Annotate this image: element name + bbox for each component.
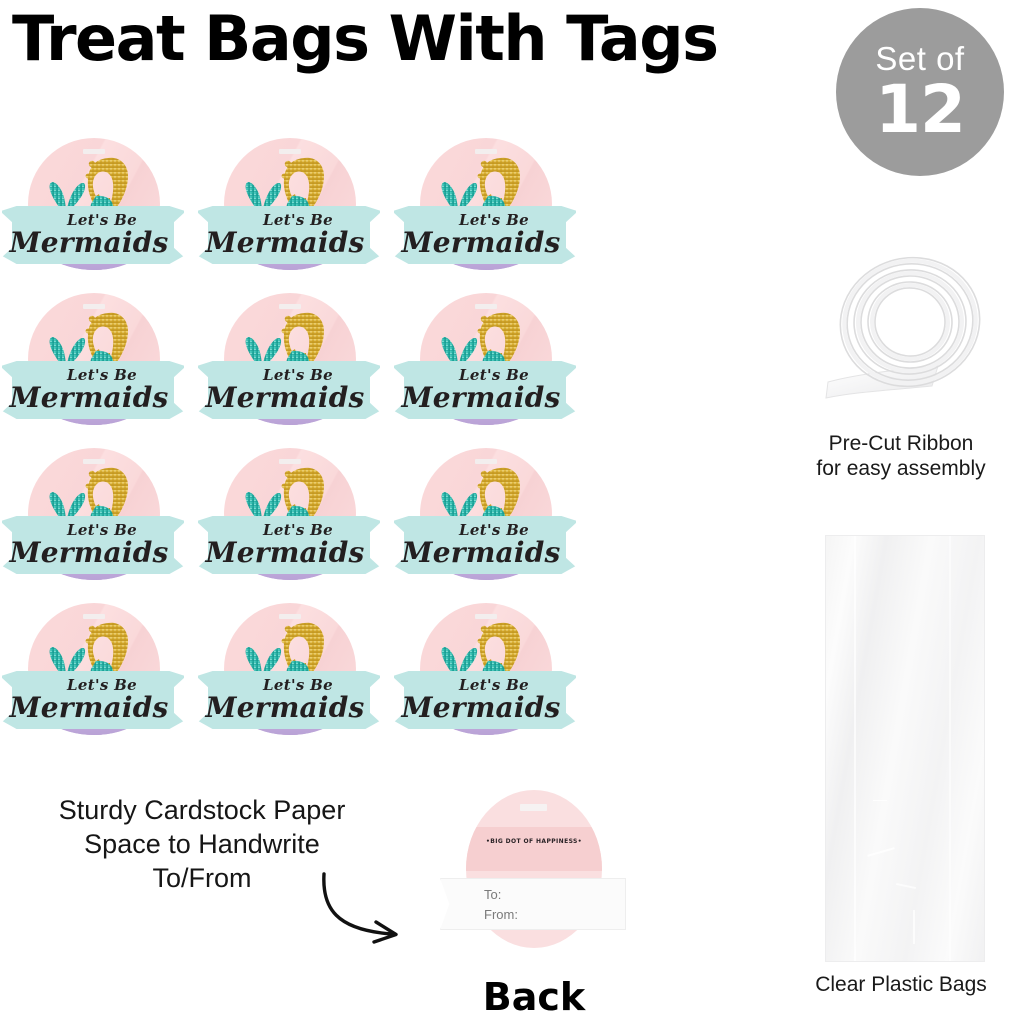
ribbon-caption: Pre-Cut Ribbon for easy assembly — [790, 432, 1012, 482]
tag-text-line2: Mermaids — [10, 694, 169, 722]
tag-banner-text: Let's BeMermaids — [2, 516, 184, 574]
cardstock-note-line2: Space to Handwrite — [8, 827, 396, 861]
tag-banner: Let's BeMermaids — [394, 671, 576, 729]
mermaid-tag: Let's BeMermaids — [196, 603, 382, 755]
tag-text-line2: Mermaids — [402, 694, 561, 722]
tag-banner-text: Let's BeMermaids — [394, 361, 576, 419]
tag-banner: Let's BeMermaids — [394, 361, 576, 419]
clear-plastic-bag-image — [825, 535, 985, 962]
back-tag-write-banner: To: From: — [440, 878, 626, 930]
set-badge-count: 12 — [875, 77, 965, 143]
mermaid-tag-grid: Let's BeMermaids — [0, 138, 600, 758]
tag-banner-text: Let's BeMermaids — [198, 516, 380, 574]
tag-banner-text: Let's BeMermaids — [2, 361, 184, 419]
tag-text-line2: Mermaids — [206, 539, 365, 567]
tag-text-line2: Mermaids — [10, 384, 169, 412]
mermaid-tag: Let's BeMermaids — [392, 138, 578, 290]
mermaid-tag: Let's BeMermaids — [0, 293, 186, 445]
mermaid-tag: Let's BeMermaids — [392, 603, 578, 755]
tag-text-line2: Mermaids — [402, 384, 561, 412]
tag-banner-text: Let's BeMermaids — [2, 206, 184, 264]
back-caption: Back — [440, 975, 628, 1019]
mermaid-tag: Let's BeMermaids — [0, 603, 186, 755]
back-tag-to-label: To: — [484, 887, 501, 902]
tag-banner-text: Let's BeMermaids — [198, 206, 380, 264]
tag-banner-text: Let's BeMermaids — [394, 206, 576, 264]
ribbon-caption-line2: for easy assembly — [790, 457, 1012, 482]
tag-text-line2: Mermaids — [206, 694, 365, 722]
set-count-badge: Set of 12 — [836, 8, 1004, 176]
mermaid-tag: Let's BeMermaids — [392, 448, 578, 600]
tag-text-line2: Mermaids — [402, 229, 561, 257]
tag-banner: Let's BeMermaids — [2, 361, 184, 419]
tag-banner: Let's BeMermaids — [198, 206, 380, 264]
tag-banner: Let's BeMermaids — [198, 516, 380, 574]
tag-banner-text: Let's BeMermaids — [198, 671, 380, 729]
curved-arrow-icon — [310, 868, 422, 950]
tag-text-line2: Mermaids — [206, 229, 365, 257]
back-tag-hang-slot — [520, 804, 547, 811]
back-tag-from-label: From: — [484, 907, 518, 922]
back-tag-preview: •BIG DOT OF HAPPINESS• To: From: — [440, 790, 628, 965]
cardstock-note-line1: Sturdy Cardstock Paper — [8, 793, 396, 827]
tag-banner-text: Let's BeMermaids — [198, 361, 380, 419]
bag-caption: Clear Plastic Bags — [790, 973, 1012, 997]
tag-banner: Let's BeMermaids — [2, 671, 184, 729]
set-badge-label: Set of — [875, 42, 964, 75]
tag-banner-text: Let's BeMermaids — [394, 671, 576, 729]
back-tag-brand-text: •BIG DOT OF HAPPINESS• — [466, 838, 602, 845]
tag-text-line2: Mermaids — [402, 539, 561, 567]
tag-banner: Let's BeMermaids — [2, 206, 184, 264]
tag-banner: Let's BeMermaids — [198, 671, 380, 729]
back-tag-color-band — [466, 827, 602, 871]
back-tag-banner-shape — [440, 878, 626, 930]
tag-banner: Let's BeMermaids — [2, 516, 184, 574]
clear-plastic-bag-section: Clear Plastic Bags — [790, 535, 1012, 1015]
mermaid-tag: Let's BeMermaids — [196, 448, 382, 600]
mermaid-tag: Let's BeMermaids — [196, 293, 382, 445]
mermaid-tag: Let's BeMermaids — [196, 138, 382, 290]
mermaid-tag: Let's BeMermaids — [0, 448, 186, 600]
page-title: Treat Bags With Tags — [12, 8, 718, 70]
tag-banner: Let's BeMermaids — [198, 361, 380, 419]
tag-text-line2: Mermaids — [10, 539, 169, 567]
tag-banner-text: Let's BeMermaids — [394, 516, 576, 574]
tag-banner: Let's BeMermaids — [394, 516, 576, 574]
tag-banner-text: Let's BeMermaids — [2, 671, 184, 729]
ribbon-caption-line1: Pre-Cut Ribbon — [790, 432, 1012, 457]
mermaid-tag: Let's BeMermaids — [0, 138, 186, 290]
mermaid-tag: Let's BeMermaids — [392, 293, 578, 445]
tag-text-line2: Mermaids — [206, 384, 365, 412]
ribbon-coil-icon — [814, 250, 994, 425]
tag-banner: Let's BeMermaids — [394, 206, 576, 264]
pre-cut-ribbon-section: Pre-Cut Ribbon for easy assembly — [790, 250, 1012, 510]
tag-text-line2: Mermaids — [10, 229, 169, 257]
